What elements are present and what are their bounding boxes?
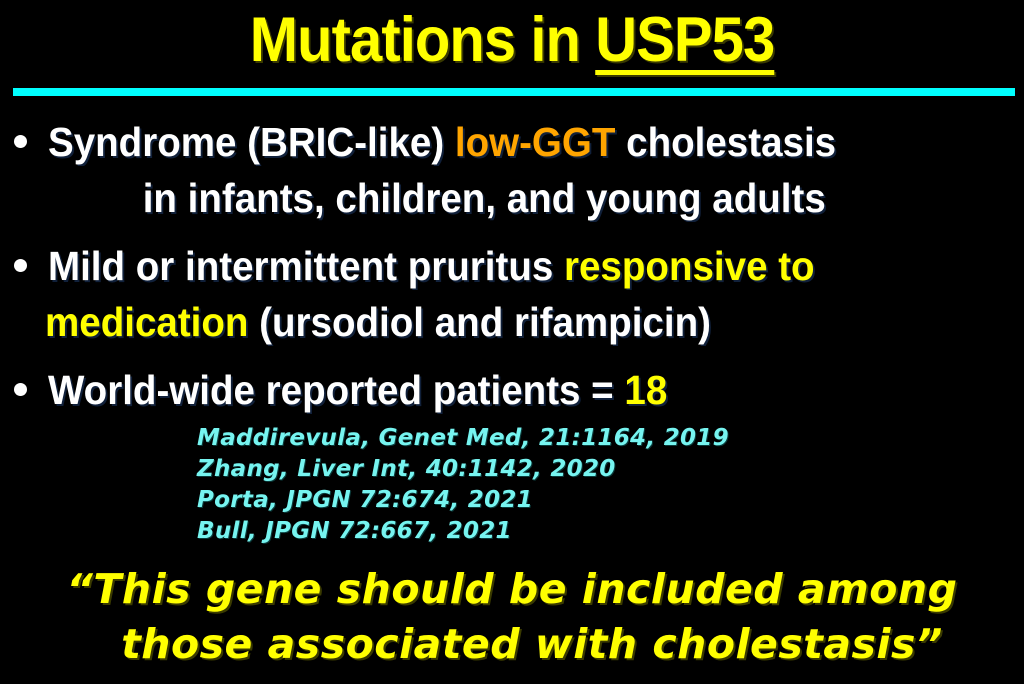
bullet-2-text-a: Mild or intermittent pruritus xyxy=(48,243,564,289)
bullet-2-line-2: medication (ursodiol and rifampicin) xyxy=(45,294,952,350)
slide-canvas: Mutations in USP53 Syndrome (BRIC-like) … xyxy=(0,0,1024,684)
bullet-dot-icon xyxy=(14,135,27,148)
bullet-list: Syndrome (BRIC-like) low-GGT cholestasis… xyxy=(0,112,1024,424)
bullet-1-line-1: Syndrome (BRIC-like) low-GGT cholestasis xyxy=(48,114,952,170)
bullet-1-highlight-low-ggt: low-GGT xyxy=(455,119,616,165)
citation-item: Bull, JPGN 72:667, 2021 xyxy=(197,516,729,547)
bullet-3-highlight-count: 18 xyxy=(624,367,667,413)
bullet-3-text-a: World-wide reported patients = xyxy=(48,367,624,413)
title-prefix-text: Mutations in xyxy=(250,5,595,75)
citation-list: Maddirevula, Genet Med, 21:1164, 2019 Zh… xyxy=(197,423,729,547)
bullet-1-line-2: in infants, children, and young adults xyxy=(18,170,950,226)
citation-item: Maddirevula, Genet Med, 21:1164, 2019 xyxy=(197,423,729,454)
bullet-2-highlight-medication: medication xyxy=(45,299,248,345)
bullet-dot-icon xyxy=(14,383,27,396)
bullet-2-highlight-responsive: responsive to xyxy=(564,243,815,289)
citation-item: Porta, JPGN 72:674, 2021 xyxy=(197,485,729,516)
divider-rule xyxy=(13,88,1015,96)
bullet-1-text-b: cholestasis xyxy=(615,119,836,165)
title-gene-name: USP53 xyxy=(595,5,774,75)
quote-line-1: “This gene should be included among xyxy=(0,562,1024,617)
bullet-2-text-b: (ursodiol and rifampicin) xyxy=(248,299,711,345)
pull-quote: “This gene should be included among thos… xyxy=(0,562,1024,672)
bullet-item-patient-count: World-wide reported patients = 18 xyxy=(0,362,1024,418)
bullet-item-pruritus: Mild or intermittent pruritus responsive… xyxy=(0,238,1024,350)
page-title: Mutations in USP53 xyxy=(250,4,774,76)
title-block: Mutations in USP53 xyxy=(0,4,1024,76)
bullet-3-line-1: World-wide reported patients = 18 xyxy=(48,362,952,418)
bullet-1-text-a: Syndrome (BRIC-like) xyxy=(48,119,455,165)
citation-item: Zhang, Liver Int, 40:1142, 2020 xyxy=(197,454,729,485)
bullet-2-line-1: Mild or intermittent pruritus responsive… xyxy=(48,238,952,294)
quote-line-2: those associated with cholestasis” xyxy=(0,617,1024,672)
bullet-item-syndrome: Syndrome (BRIC-like) low-GGT cholestasis… xyxy=(0,114,1024,226)
bullet-dot-icon xyxy=(14,259,27,272)
